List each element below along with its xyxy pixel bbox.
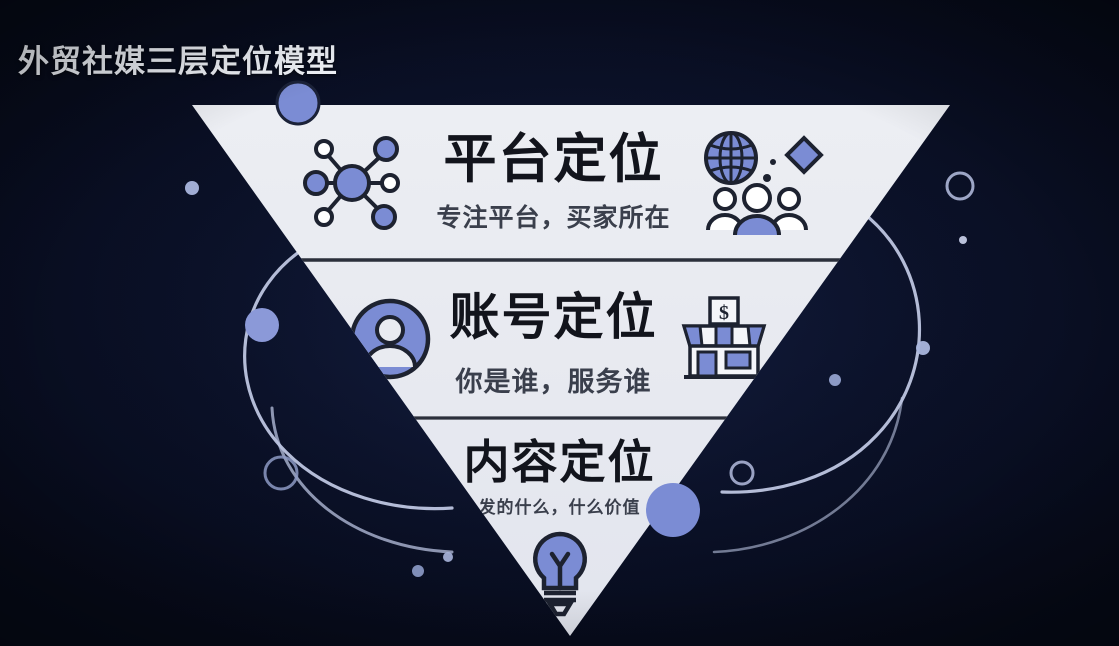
tier-content-title: 内容定位 (464, 438, 656, 486)
tier-account-subtitle: 你是谁，服务谁 (456, 360, 652, 399)
tier-platform-text: 平台定位 专注平台，买家所在 (436, 132, 670, 235)
dot-icon (770, 159, 776, 165)
network-nodes-icon (294, 125, 410, 241)
tier-platform-title: 平台定位 (443, 132, 663, 188)
diamond-icon (787, 138, 821, 172)
globe-people-icon-group (697, 127, 825, 239)
page-title: 外贸社媒三层定位模型 (18, 36, 338, 81)
svg-text:$: $ (719, 302, 729, 324)
tier-account-text: 账号定位 你是谁，服务谁 (450, 291, 658, 399)
tier-content-text: 内容定位 发的什么，什么价值 (464, 438, 656, 517)
globe-icon (706, 133, 756, 183)
tier-content-subtitle: 发的什么，什么价值 (479, 493, 641, 518)
slide-canvas: 平台定位 专注平台，买家所在 (0, 0, 1119, 646)
tier-platform-subtitle: 专注平台，买家所在 (436, 198, 670, 234)
people-group-icon (708, 185, 806, 235)
storefront-icon: $ (676, 296, 772, 382)
tier-account-title: 账号定位 (450, 291, 658, 344)
dot-icon (763, 174, 771, 182)
